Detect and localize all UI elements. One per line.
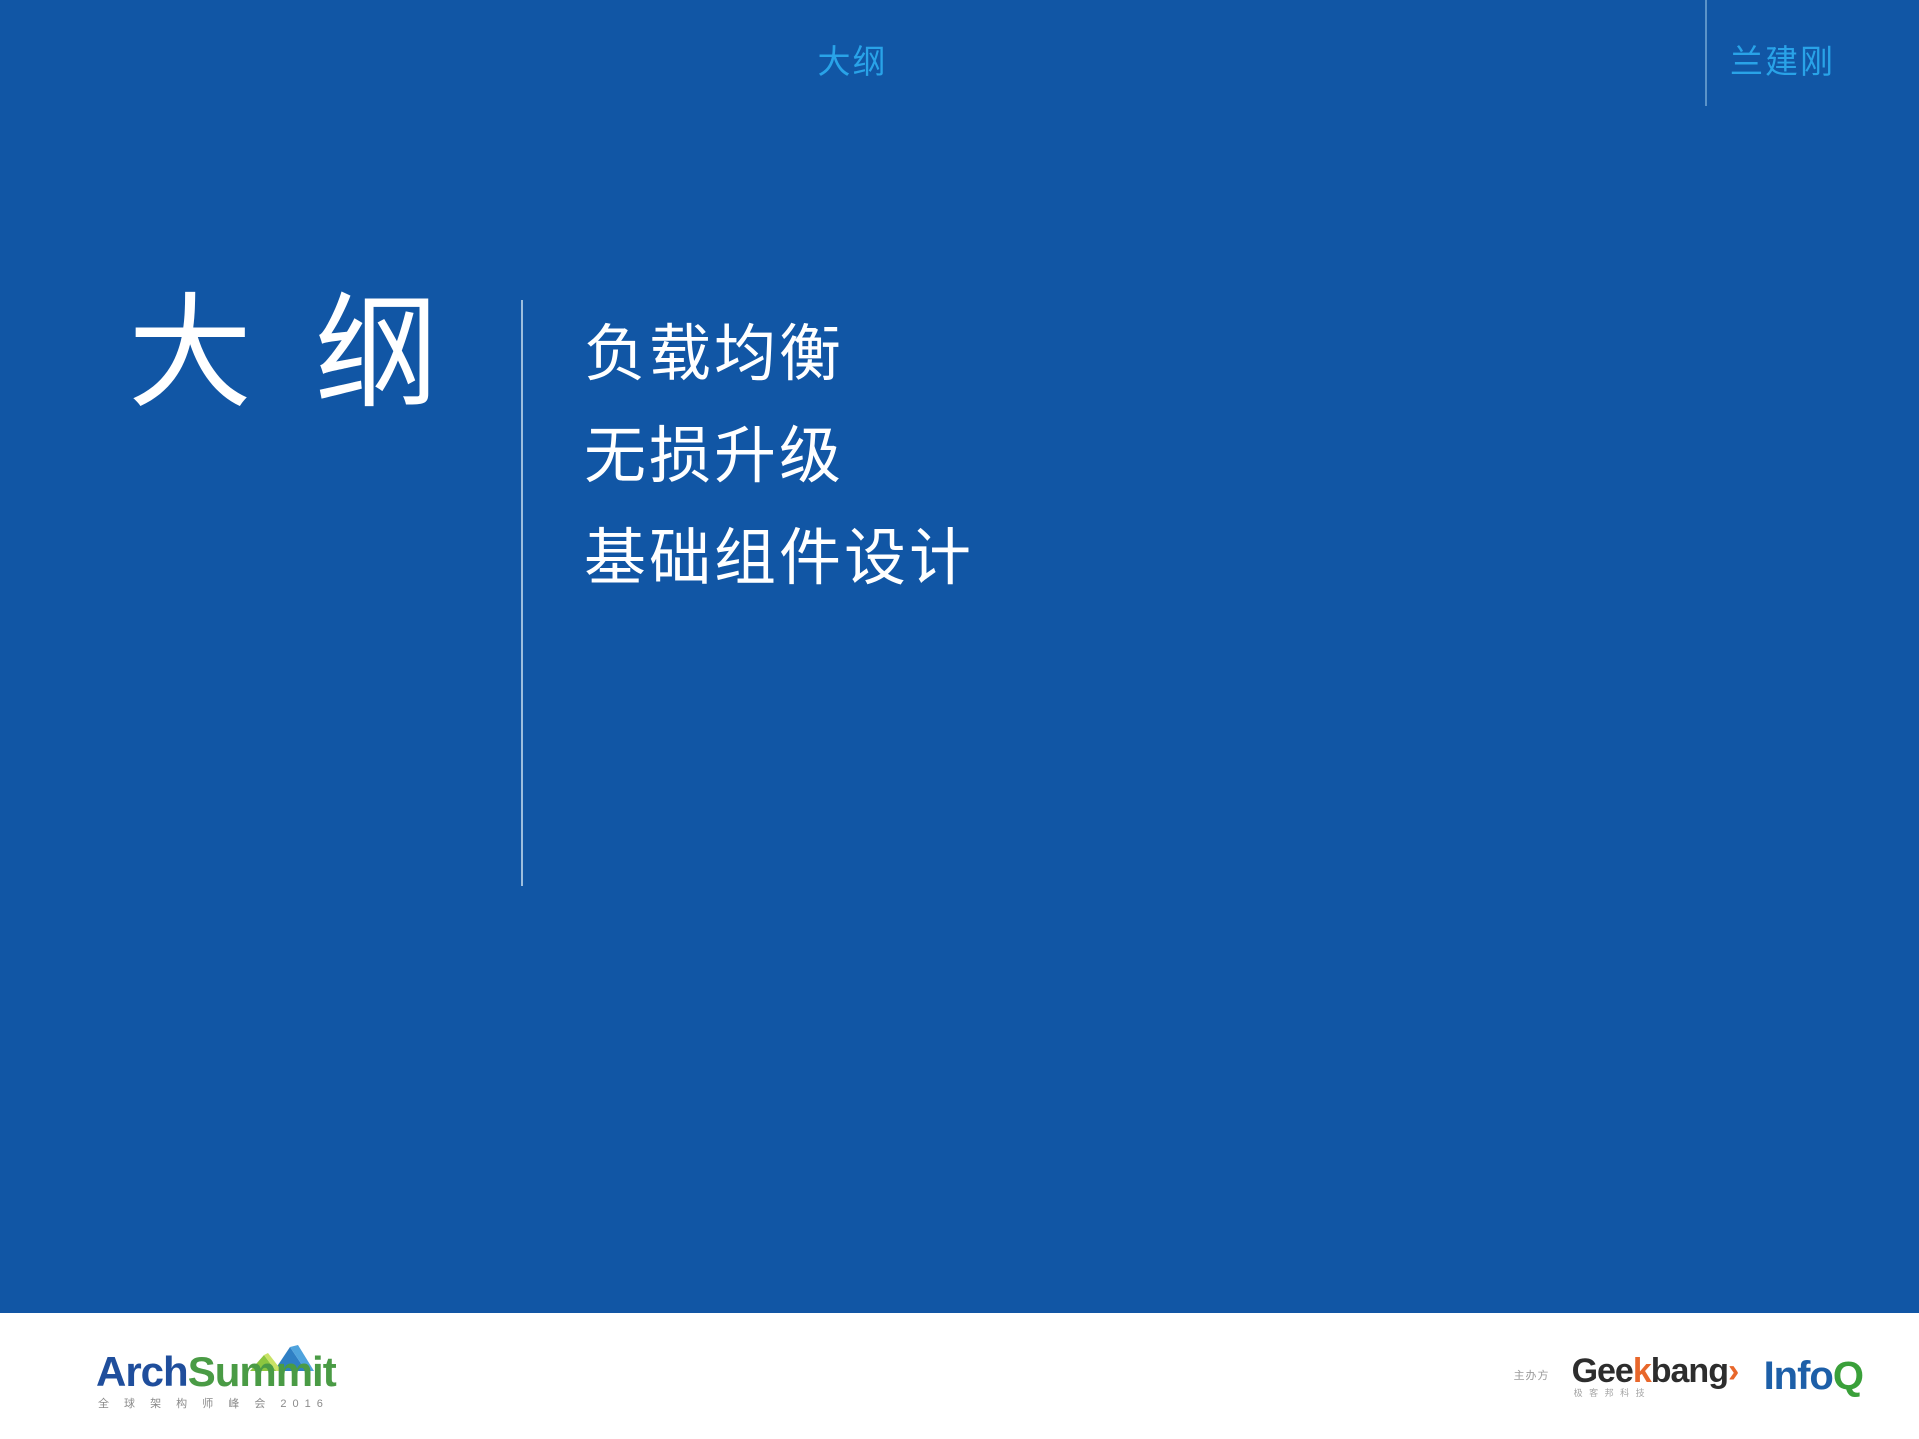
infoq-word-q: Q: [1833, 1354, 1863, 1398]
geekbang-subtitle: 极 客 邦 科 技: [1574, 1388, 1647, 1399]
archsummit-wordmark: ArchSummit: [96, 1349, 336, 1395]
archsummit-word-summit: Summit: [188, 1348, 336, 1395]
infoq-logo: InfoQ: [1764, 1354, 1863, 1398]
sponsor-logos: 主办方 Geekbang› 极 客 邦 科 技 InfoQ: [1514, 1343, 1863, 1409]
geekbang-word-part1: Gee: [1572, 1352, 1633, 1390]
page-title: 大 纲: [128, 288, 468, 420]
geekbang-word-part2: bang: [1651, 1352, 1728, 1390]
archsummit-word-arch: Arch: [96, 1348, 188, 1395]
list-item: 基础组件设计: [584, 526, 974, 592]
list-item: 无损升级: [584, 424, 974, 490]
outline-list: 负载均衡 无损升级 基础组件设计: [584, 322, 974, 628]
list-item: 负载均衡: [584, 322, 974, 388]
slide-footer: ArchSummit 全 球 架 构 师 峰 会 2016 主办方 Geekba…: [0, 1313, 1919, 1439]
infoq-word-info: Info: [1764, 1354, 1833, 1398]
slide-stage: 大纲 兰建刚 大 纲 负载均衡 无损升级 基础组件设计: [0, 0, 1919, 1313]
content-vertical-divider: [521, 300, 523, 886]
archsummit-subtitle: 全 球 架 构 师 峰 会 2016: [98, 1397, 329, 1411]
geekbang-logo: Geekbang› 极 客 邦 科 技: [1572, 1348, 1742, 1404]
geekbang-word-k: k: [1633, 1352, 1651, 1390]
archsummit-logo: ArchSummit 全 球 架 构 师 峰 会 2016: [96, 1341, 336, 1417]
sponsor-label: 主办方: [1514, 1369, 1550, 1383]
slide-body: 大 纲 负载均衡 无损升级 基础组件设计: [0, 0, 1919, 1313]
geekbang-wordmark: Geekbang›: [1572, 1352, 1739, 1390]
chevron-right-icon: ›: [1728, 1352, 1738, 1390]
slide: 大纲 兰建刚 大 纲 负载均衡 无损升级 基础组件设计: [0, 0, 1919, 1439]
